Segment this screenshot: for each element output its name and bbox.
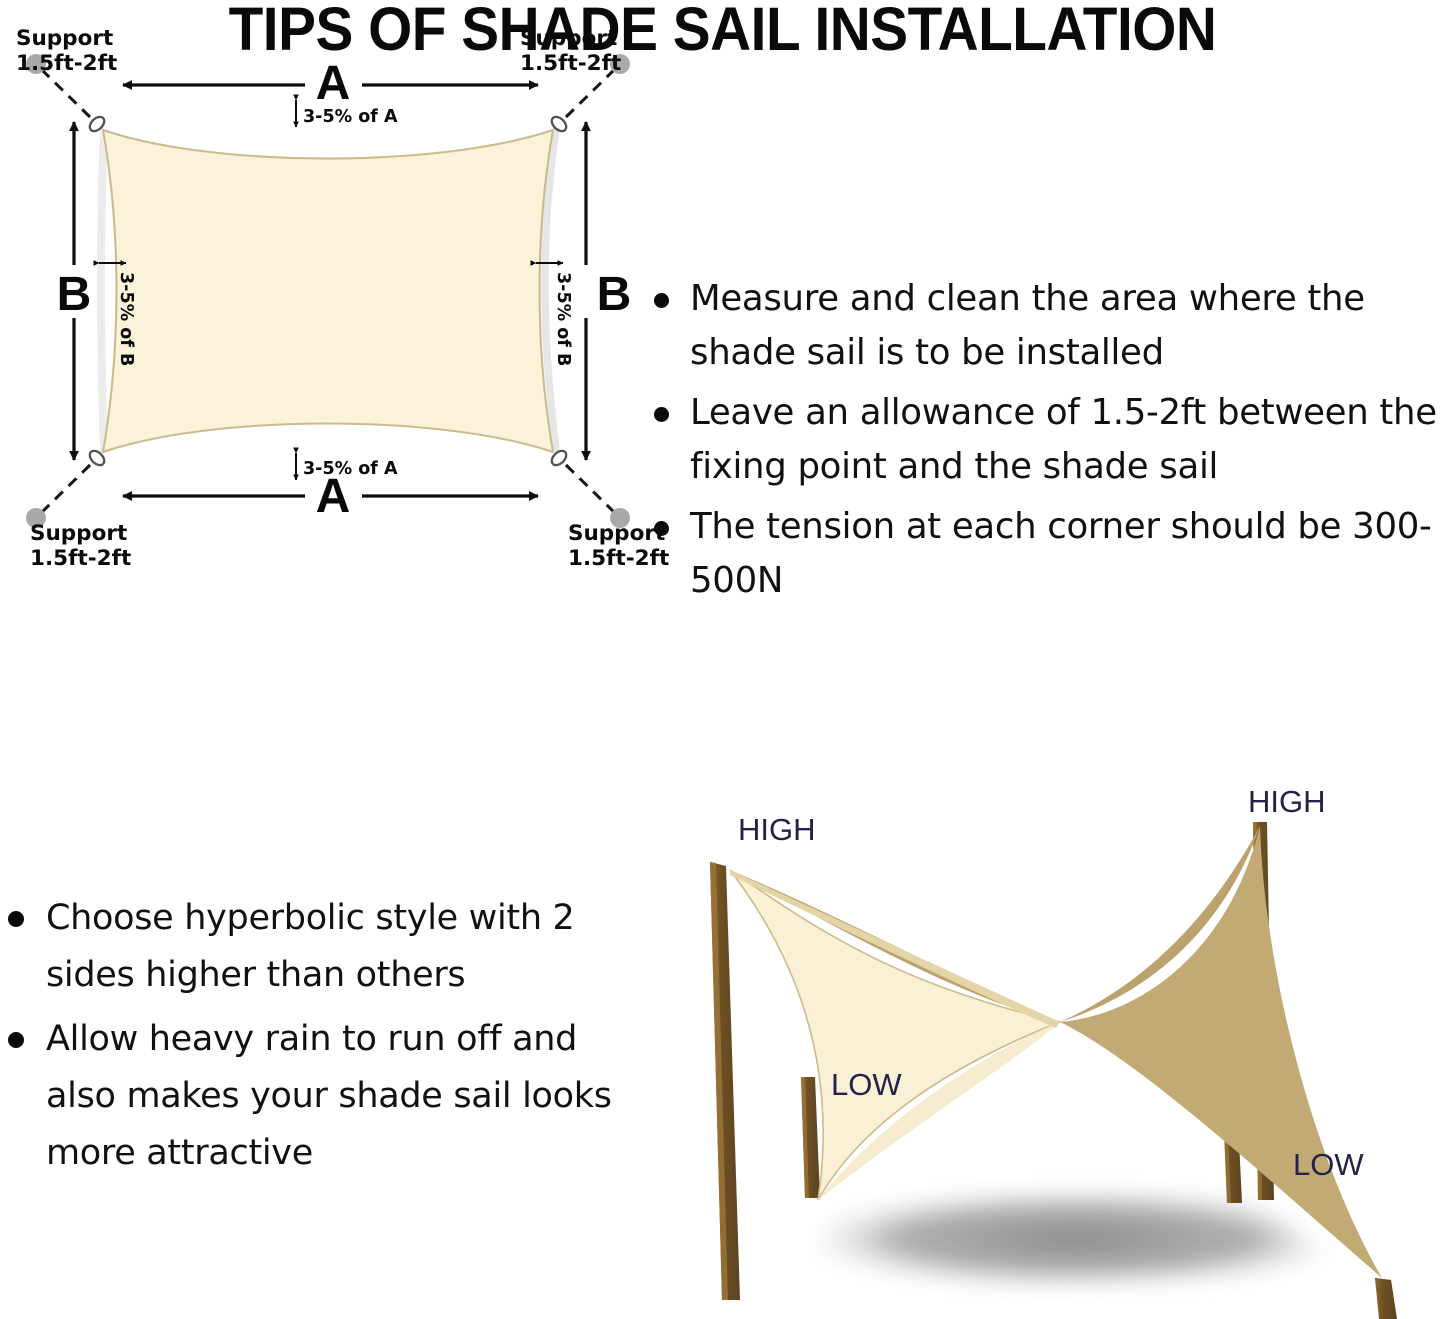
shade-sail-fabric [103,130,553,452]
list-item-text: Leave an allowance of 1.5-2ft between th… [690,392,1437,487]
label-high-left: HIGH [738,812,816,847]
post-low-right [1375,1278,1397,1319]
support-top-right-spec: 1.5ft-2ft [520,51,621,76]
rectangular-sail-diagram: A 3-5% of A A 3-5% of A B 3-5% of B [0,0,660,600]
sail-edge-shadow-2 [97,128,108,452]
curve-b-right-label: 3-5% of B [553,272,573,366]
dim-b-right-letter: B [597,268,632,321]
support-bottom-left-spec: 1.5ft-2ft [30,546,131,571]
support-top-right-label: Support [520,26,617,51]
support-top-left-label: Support [16,26,113,51]
hyperbolic-sail-diagram: HIGH HIGH LOW LOW [668,770,1445,1319]
support-bottom-left-label: Support [30,521,127,546]
bullet-dot-icon [654,293,669,308]
bullet-dot-icon [654,407,669,422]
list-item-text: Allow heavy rain to run off and also mak… [46,1019,612,1172]
sail-panel-cream [730,870,1060,1200]
post-high-left [710,862,740,1300]
dim-b-left-letter: B [57,268,92,321]
list-item: Choose hyperbolic style with 2 sides hig… [0,890,625,1003]
label-high-right: HIGH [1248,784,1326,819]
list-item: Leave an allowance of 1.5-2ft between th… [648,386,1445,494]
tips-list-top: Measure and clean the area where the sha… [648,272,1445,608]
list-item: The tension at each corner should be 300… [648,500,1445,608]
support-top-left-spec: 1.5ft-2ft [16,51,117,76]
list-item-text: Choose hyperbolic style with 2 sides hig… [46,898,575,995]
tips-list-bottom: Choose hyperbolic style with 2 sides hig… [0,890,625,1181]
list-item-text: Measure and clean the area where the sha… [690,278,1365,373]
list-item: Allow heavy rain to run off and also mak… [0,1011,625,1181]
bullet-dot-icon [654,521,669,536]
list-item: Measure and clean the area where the sha… [648,272,1445,380]
bullet-dot-icon [8,1032,24,1048]
label-low-left: LOW [831,1067,902,1102]
label-low-right: LOW [1293,1147,1364,1182]
installation-tips-list-top: Measure and clean the area where the sha… [648,272,1445,614]
installation-tips-list-bottom: Choose hyperbolic style with 2 sides hig… [0,890,625,1189]
curve-a-top-label: 3-5% of A [303,107,398,127]
post-low-left [801,1077,820,1198]
curve-a-bottom-label: 3-5% of A [303,459,398,479]
ground-shadow [793,1188,1358,1290]
list-item-text: The tension at each corner should be 300… [690,506,1432,601]
dim-a-top-letter: A [316,57,351,110]
bullet-dot-icon [8,911,24,927]
curve-b-left-label: 3-5% of B [116,272,136,366]
